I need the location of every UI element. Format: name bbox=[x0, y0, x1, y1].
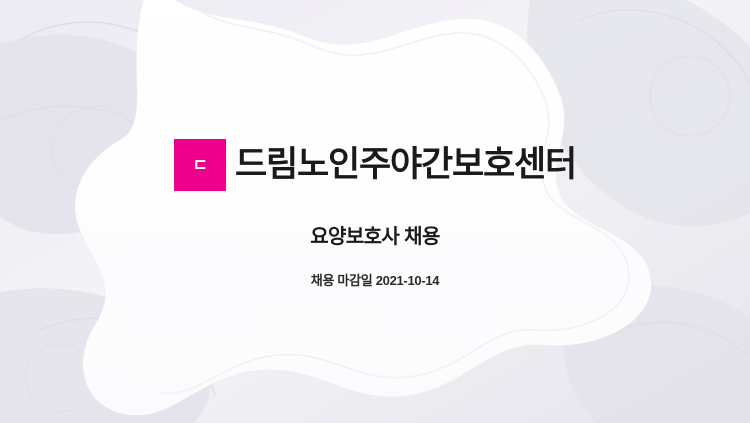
company-title-row: ㄷ 드림노인주야간보호센터 bbox=[174, 139, 576, 191]
job-title: 요양보호사 채용 bbox=[310, 220, 440, 249]
company-name: 드림노인주야간보호센터 bbox=[235, 146, 576, 185]
logo-glyph: ㄷ bbox=[192, 157, 207, 174]
job-posting-card: ㄷ 드림노인주야간보호센터 요양보호사 채용 채용 마감일 2021-10-14 bbox=[0, 0, 750, 423]
card-content: ㄷ 드림노인주야간보호센터 요양보호사 채용 채용 마감일 2021-10-14 bbox=[0, 0, 750, 423]
application-deadline: 채용 마감일 2021-10-14 bbox=[311, 270, 439, 289]
company-logo-badge: ㄷ bbox=[174, 139, 226, 191]
